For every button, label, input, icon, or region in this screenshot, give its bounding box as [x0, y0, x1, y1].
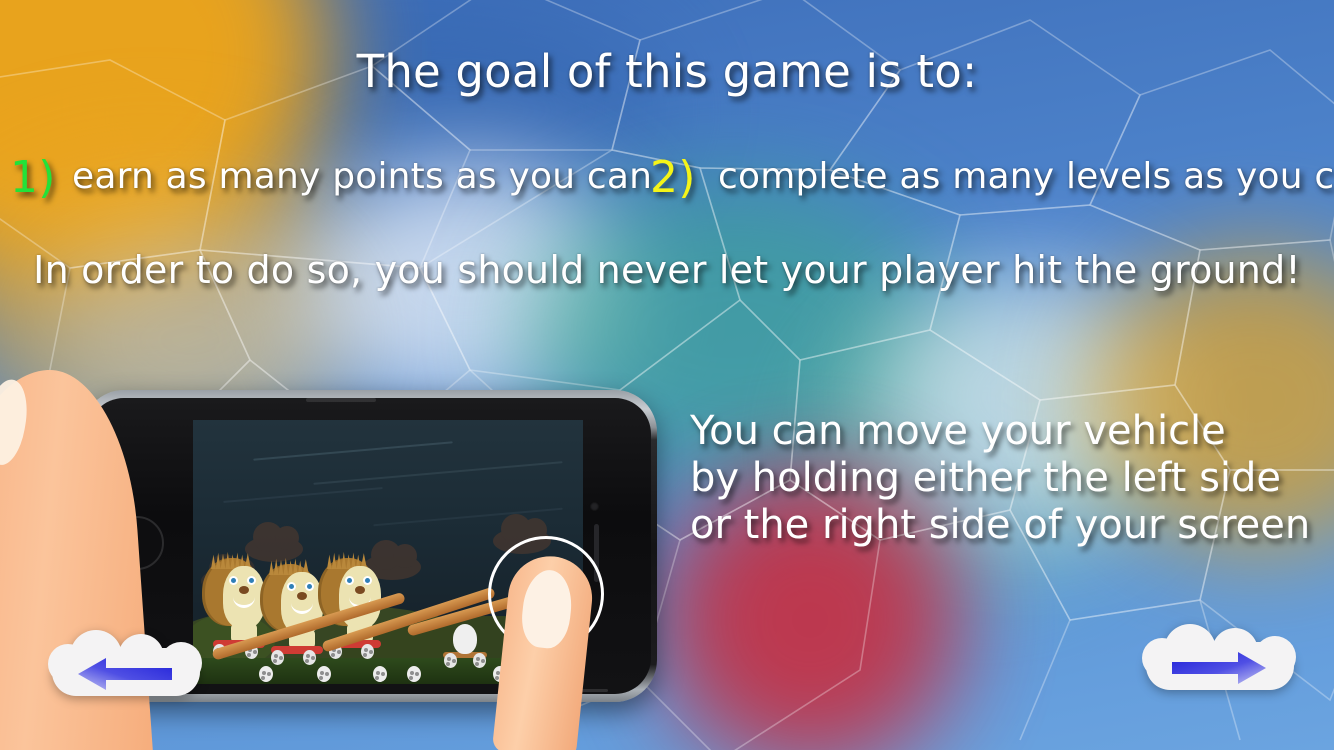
front-camera-icon — [590, 502, 599, 511]
goal-1-marker: 1) — [10, 152, 56, 203]
instruction-line-1: You can move your vehicle — [690, 408, 1334, 455]
cloud-icon — [493, 528, 551, 554]
instruction-line-2: by holding either the left side — [690, 455, 1334, 502]
tutorial-screen: The goal of this game is to: 1) earn as … — [0, 0, 1334, 750]
goal-2-text: complete as many levels as you can — [718, 156, 1334, 197]
instructions-block: You can move your vehicle by holding eit… — [690, 408, 1334, 550]
earpiece-speaker-icon — [594, 524, 599, 582]
goals-row: 1) earn as many points as you can 2) com… — [0, 152, 1334, 204]
thumb-nail — [0, 376, 33, 468]
obstacle-ball — [407, 666, 421, 682]
goal-1-text: earn as many points as you can — [72, 156, 652, 197]
finger-nail — [519, 568, 575, 651]
warning-line: In order to do so, you should never let … — [0, 248, 1334, 292]
page-title: The goal of this game is to: — [0, 45, 1334, 98]
previous-button[interactable] — [52, 638, 200, 706]
arrow-right-icon — [1170, 650, 1270, 686]
egg-cart-vehicle — [443, 638, 487, 668]
obstacle-ball — [373, 666, 387, 682]
goal-2-marker: 2) — [650, 152, 696, 203]
obstacle-ball — [259, 666, 273, 682]
next-button[interactable] — [1146, 632, 1294, 700]
obstacle-ball — [317, 666, 331, 682]
top-speaker-slot — [306, 398, 376, 402]
hedgehog-character — [209, 554, 271, 646]
arrow-left-icon — [76, 656, 176, 692]
instruction-line-3: or the right side of your screen — [690, 502, 1334, 549]
background-glow-orange-topleft — [0, 0, 330, 290]
